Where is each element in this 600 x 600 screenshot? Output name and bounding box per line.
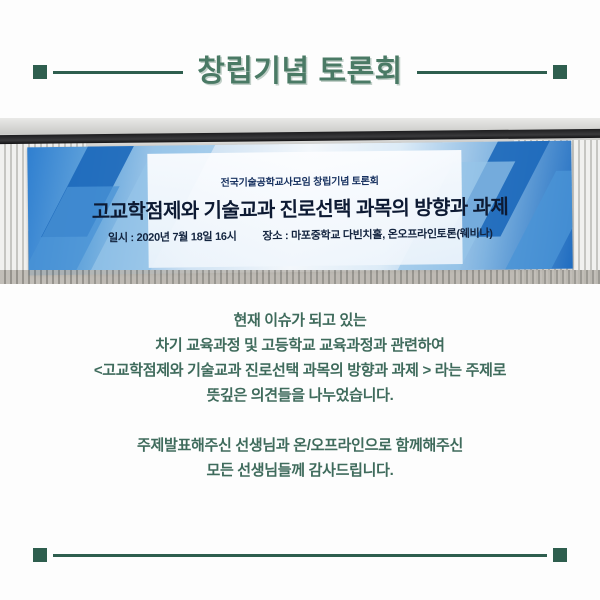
square-cap-icon-footer-right (553, 548, 567, 562)
body-copy: 현재 이슈가 되고 있는 차기 교육과정 및 고등학교 교육과정과 관련하여 <… (0, 308, 600, 483)
banner-info-row: 일시 : 2020년 7월 18일 16시 장소 : 마포중학교 다빈치홀, 온… (108, 225, 493, 246)
square-cap-icon-left (33, 65, 47, 79)
title-divider-left (53, 71, 183, 74)
body-line-2: 차기 교육과정 및 고등학교 교육과정과 관련하여 (0, 333, 600, 358)
footer-rule (0, 548, 600, 562)
body-line-4: 뜻깊은 의견들을 나누었습니다. (0, 383, 600, 408)
banner-subtitle: 전국기술공학교사모임 창립기념 토론회 (220, 172, 378, 189)
footer-divider (53, 554, 547, 557)
body-line-3: <고교학점제와 기술교과 진로선택 과목의 방향과 과제 > 라는 주제로 (0, 358, 600, 383)
square-cap-icon-footer-left (33, 548, 47, 562)
paragraph-spacer (0, 408, 600, 433)
body-line-5: 주제발표해주신 선생님과 온/오프라인으로 함께해주신 (0, 433, 600, 458)
event-photo: 전국기술공학교사모임 창립기념 토론회 고교학점제와 기술교과 진로선택 과목의… (0, 118, 600, 284)
banner-datetime: 일시 : 2020년 7월 18일 16시 (108, 228, 237, 246)
event-banner: 전국기술공학교사모임 창립기념 토론회 고교학점제와 기술교과 진로선택 과목의… (27, 141, 573, 276)
page-title-rule: 창립기념 토론회 (0, 46, 600, 98)
banner-location: 장소 : 마포중학교 다빈치홀, 온오프라인토론(웨비나) (262, 225, 492, 244)
square-cap-icon-right (553, 65, 567, 79)
page-title: 창립기념 토론회 (197, 57, 403, 87)
banner-text-group: 전국기술공학교사모임 창립기념 토론회 고교학점제와 기술교과 진로선택 과목의… (27, 141, 573, 276)
body-line-1: 현재 이슈가 되고 있는 (0, 308, 600, 333)
poster-card: 창립기념 토론회 전국기술공학교사모임 창립기념 토론회 고교학점제와 기술교과… (0, 0, 600, 600)
banner-title: 고교학점제와 기술교과 진로선택 과목의 방향과 과제 (92, 190, 509, 224)
body-line-6: 모든 선생님들께 감사드립니다. (0, 458, 600, 483)
title-divider-right (417, 71, 547, 74)
photo-floor-strip (0, 270, 600, 284)
